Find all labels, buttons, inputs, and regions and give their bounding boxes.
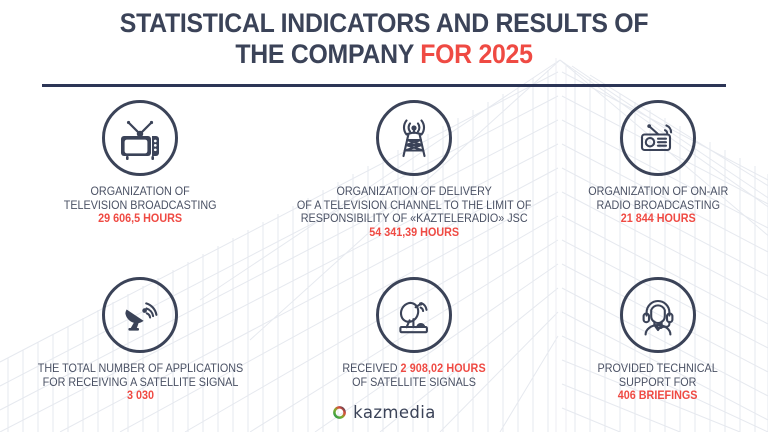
page-title-line-2: THE COMPANY FOR 2025	[31, 39, 738, 70]
stat-label-line: TELEVISION BROADCASTING	[64, 199, 217, 213]
broadcast-tower-icon	[376, 100, 452, 176]
kazmedia-logo: kazmedia	[0, 403, 768, 422]
stat-card-received-satellite-signals: RECEIVED 2 908,02 HOURS OF SATELLITE SIG…	[280, 277, 548, 403]
stat-caption-television: ORGANIZATION OF TELEVISION BROADCASTING …	[64, 185, 217, 226]
stat-card-radio-broadcasting: ORGANIZATION OF ON-AIR RADIO BROADCASTIN…	[548, 100, 768, 239]
stat-caption-satellite-applications: THE TOTAL NUMBER OF APPLICATIONS FOR REC…	[37, 362, 243, 403]
stat-value: 3 030	[37, 389, 243, 403]
title-divider	[42, 84, 726, 87]
satellite-ground-station-icon	[376, 277, 452, 353]
stat-card-technical-support: PROVIDED TECHNICAL SUPPORT FOR 406 BRIEF…	[548, 277, 768, 403]
stat-label-line: THE TOTAL NUMBER OF APPLICATIONS	[37, 362, 243, 376]
stat-caption-technical-support: PROVIDED TECHNICAL SUPPORT FOR 406 BRIEF…	[598, 362, 718, 403]
stat-label-line: PROVIDED TECHNICAL	[598, 362, 718, 376]
kazmedia-wordmark: kazmedia	[353, 403, 436, 422]
stat-label-line: SUPPORT FOR	[598, 376, 718, 390]
stat-value: 406 BRIEFINGS	[598, 389, 718, 403]
stat-value: 29 606,5 HOURS	[64, 212, 217, 226]
page-title-line-2-main: THE COMPANY	[235, 39, 420, 69]
stats-row-bottom: THE TOTAL NUMBER OF APPLICATIONS FOR REC…	[0, 277, 768, 403]
page-title-line-1: STATISTICAL INDICATORS AND RESULTS OF	[31, 8, 738, 39]
stat-label-line: FOR RECEIVING A SATELLITE SIGNAL	[37, 376, 243, 390]
radio-icon	[620, 100, 696, 176]
stat-label-line-with-inline-value: RECEIVED 2 908,02 HOURS	[342, 362, 485, 376]
stat-label-line: RESPONSIBILITY OF «KAZTELERADIO» JSC	[297, 212, 532, 226]
satellite-dish-icon	[102, 277, 178, 353]
stat-inline-value: 2 908,02 HOURS	[400, 362, 485, 375]
stat-card-television: ORGANIZATION OF TELEVISION BROADCASTING …	[0, 100, 280, 239]
headset-support-icon	[620, 277, 696, 353]
stat-label-line: OF SATELLITE SIGNALS	[342, 376, 485, 390]
stat-card-satellite-applications: THE TOTAL NUMBER OF APPLICATIONS FOR REC…	[0, 277, 280, 403]
stat-value: 54 341,39 HOURS	[297, 226, 532, 240]
kazmedia-ring-icon	[332, 405, 347, 420]
infographic-canvas: STATISTICAL INDICATORS AND RESULTS OF TH…	[0, 0, 768, 432]
stat-caption-received-satellite-signals: RECEIVED 2 908,02 HOURS OF SATELLITE SIG…	[342, 362, 485, 389]
stat-caption-radio-broadcasting: ORGANIZATION OF ON-AIR RADIO BROADCASTIN…	[588, 185, 728, 226]
stat-card-tv-channel-delivery: ORGANIZATION OF DELIVERY OF A TELEVISION…	[280, 100, 548, 239]
stats-row-top: ORGANIZATION OF TELEVISION BROADCASTING …	[0, 100, 768, 239]
stat-label-line: ORGANIZATION OF ON-AIR	[588, 185, 728, 199]
stat-value: 21 844 HOURS	[588, 212, 728, 226]
page-title: STATISTICAL INDICATORS AND RESULTS OF TH…	[0, 8, 768, 70]
stat-label-line: ORGANIZATION OF DELIVERY	[297, 185, 532, 199]
stat-label-line: ORGANIZATION OF	[64, 185, 217, 199]
stat-caption-tv-channel-delivery: ORGANIZATION OF DELIVERY OF A TELEVISION…	[297, 185, 532, 239]
page-title-year-accent: FOR 2025	[420, 39, 532, 69]
stat-label-prefix: RECEIVED	[342, 362, 400, 375]
stat-label-line: RADIO BROADCASTING	[588, 199, 728, 213]
television-icon	[102, 100, 178, 176]
stat-label-line: OF A TELEVISION CHANNEL TO THE LIMIT OF	[297, 199, 532, 213]
